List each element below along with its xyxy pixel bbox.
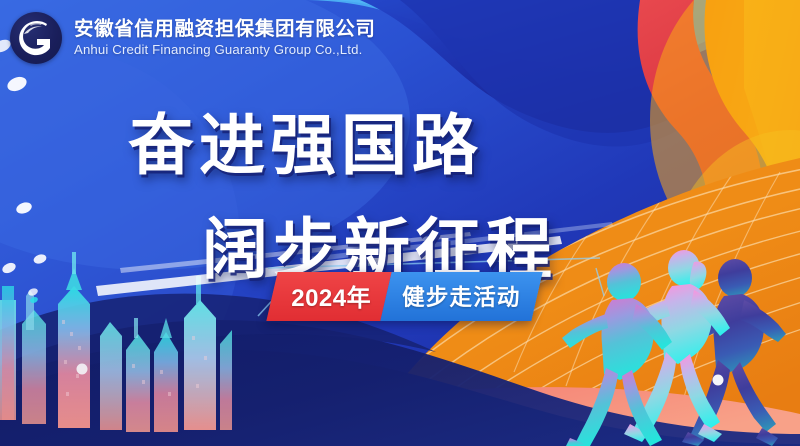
company-g-logo-icon [10, 12, 62, 64]
subtitle-event-text: 健步走活动 [402, 280, 521, 312]
company-name-block: 安徽省信用融资担保集团有限公司 Anhui Credit Financing G… [74, 19, 376, 56]
promo-banner: 安徽省信用融资担保集团有限公司 Anhui Credit Financing G… [0, 0, 800, 446]
brand-header: 安徽省信用融资担保集团有限公司 Anhui Credit Financing G… [10, 12, 376, 64]
background-artwork [0, 0, 800, 446]
company-name-en: Anhui Credit Financing Guaranty Group Co… [74, 43, 376, 57]
subtitle-ribbon: 2024年 健步走活动 [266, 272, 543, 321]
subtitle-year-text: 2024年 [291, 278, 371, 313]
company-name-cn: 安徽省信用融资担保集团有限公司 [74, 19, 376, 39]
subtitle-event-segment: 健步走活动 [380, 272, 543, 321]
subtitle-year-segment: 2024年 [266, 272, 391, 321]
